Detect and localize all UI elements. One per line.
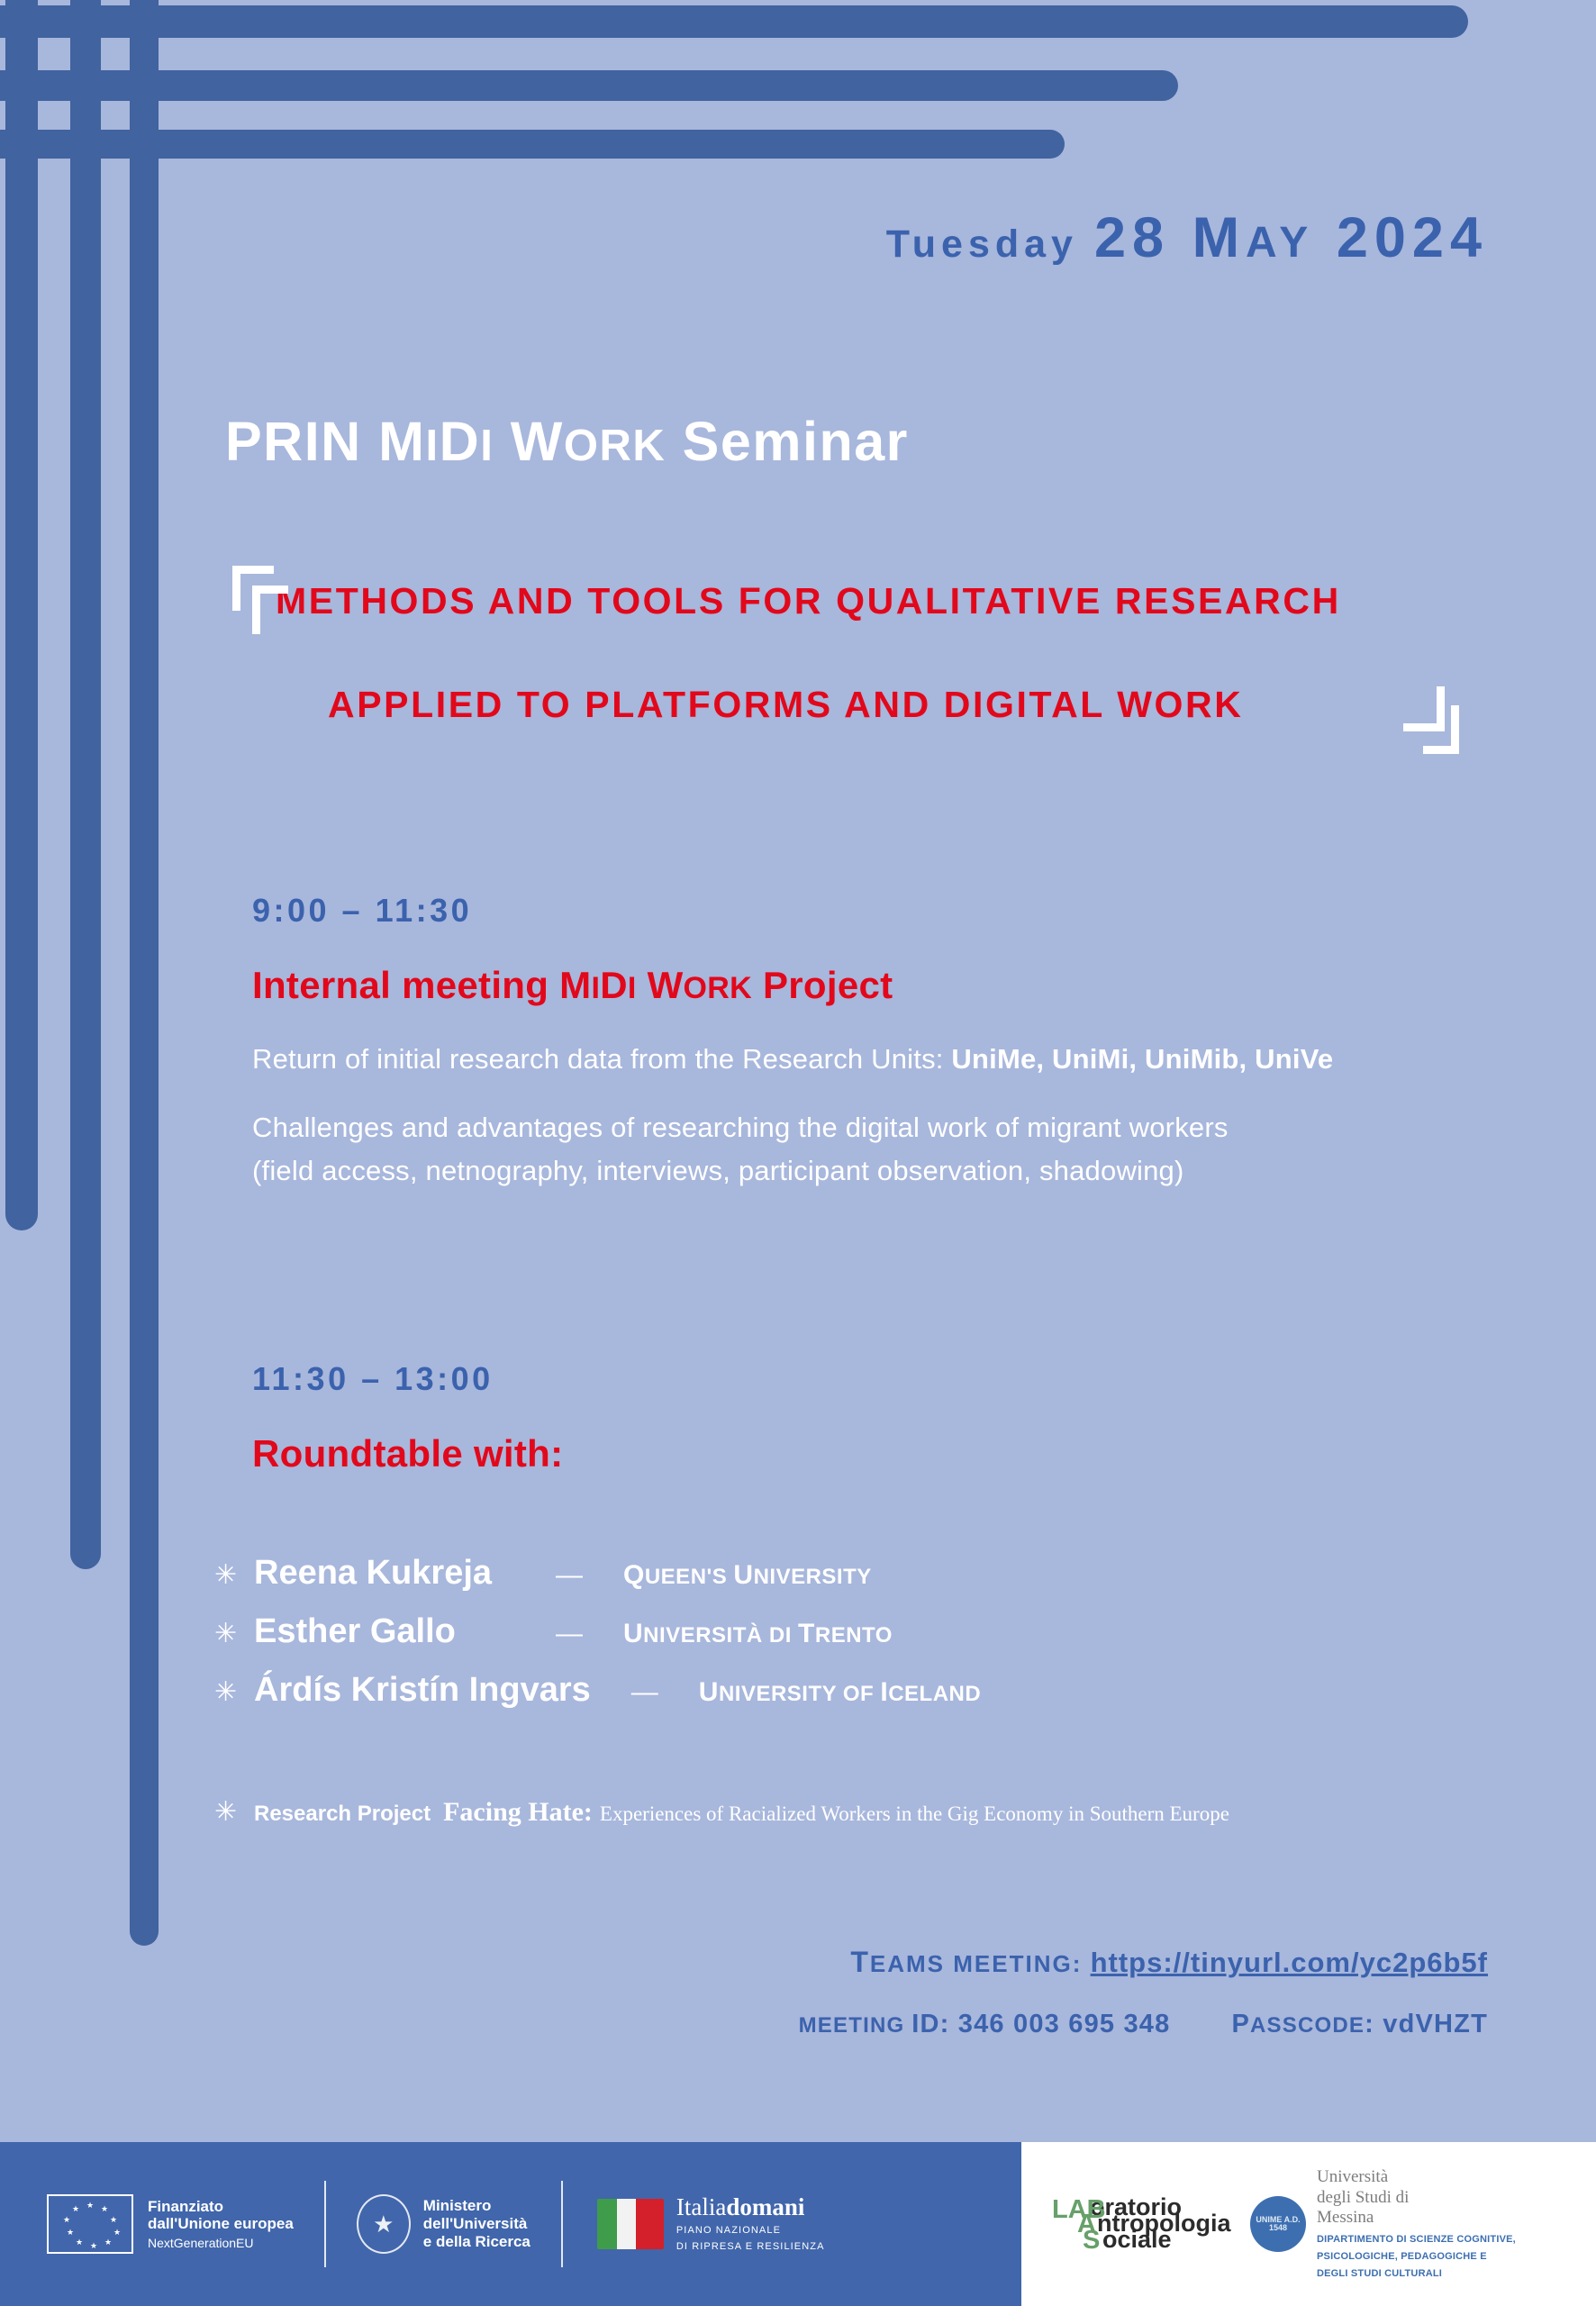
research-project-row: ✳ Research Project Facing Hate: Experien… [214,1797,1565,1828]
session-1-sc2: I [628,971,637,1005]
italiadomani-logo: Italiadomani PIANO NAZIONALE DI RIPRESA … [594,2194,825,2253]
asterisk-bullet-icon: ✳ [214,1562,254,1589]
session-1-body-line-3: (field access, netnography, interviews, … [252,1155,1495,1187]
date-month-rest: AY [1246,219,1314,267]
date-main: 28 MAY 2024 [1094,206,1488,269]
ministry-line-1: Ministero [423,2197,530,2215]
passcode-cap: P [1231,2010,1250,2038]
session-1-body-1-units: UniMe, UniMi, UniMib, UniVe [951,1043,1333,1075]
lab-word-3: ociale [1102,2228,1172,2252]
lab-letters-3: S [1083,2228,1100,2254]
speaker-name: Árdís Kristín Ingvars [254,1671,591,1710]
session-1-title-pre: Internal meeting M [252,964,591,1006]
session-2-title: Roundtable with: [252,1432,1495,1475]
unime-name-line-2: degli Studi di [1317,2188,1516,2208]
poster-canvas: Tuesday28 MAY 2024 PRIN MIDI WORK Semina… [0,0,1596,2306]
research-project-title: Facing Hate: [443,1797,593,1828]
event-date: Tuesday28 MAY 2024 [0,205,1488,270]
speaker-affiliation: UNIVERSITÀ DI TRENTO [623,1619,893,1649]
session-block-1: 9:00 – 11:30 Internal meeting MIDI WORK … [252,892,1495,1187]
aff-cap-2: T [798,1619,815,1648]
session-1-sc1: I [591,971,600,1005]
unime-dept-line-2: PSICOLOGICHE, PEDAGOGICHE E [1317,2250,1516,2263]
meeting-id-value: 346 003 695 348 [958,2010,1171,2038]
research-project-label: Research Project [254,1802,431,1827]
speaker-dash: — [515,1619,623,1649]
session-1-post: Project [752,964,893,1006]
meeting-id-cap: ID [911,2010,939,2038]
footer-logo-bar: ★ ★ ★ ★ ★ ★ ★ ★ ★ ★ Finanziato dall'Unio… [0,2142,1596,2306]
aff-cap-2: U [733,1560,753,1590]
eu-subtitle: NextGenerationEU [148,2236,294,2250]
unime-dept-line-3: DEGLI STUDI CULTURALI [1317,2267,1516,2280]
speaker-affiliation: QUEEN'S UNIVERSITY [623,1560,872,1591]
session-1-body-1-prefix: Return of initial research data from the… [252,1043,951,1075]
asterisk-bullet-icon: ✳ [214,1799,254,1826]
teams-meeting-link[interactable]: https://tinyurl.com/yc2p6b5f [1091,1947,1488,1978]
unime-name-line-3: Messina [1317,2208,1516,2228]
list-item: ✳ Reena Kukreja — QUEEN'S UNIVERSITY [214,1554,1520,1593]
unime-seal-icon: UNIME A.D. 1548 [1250,2196,1306,2252]
laboratorio-antropologia-sociale-logo: oratorio ntropologia ociale LAB A S [1052,2192,1223,2256]
speaker-dash: — [591,1677,699,1708]
footer-left-panel: ★ ★ ★ ★ ★ ★ ★ ★ ★ ★ Finanziato dall'Unio… [0,2142,1021,2306]
session-block-2: 11:30 – 13:00 Roundtable with: [252,1360,1495,1475]
session-1-work: ORK [684,971,752,1005]
speaker-list: ✳ Reena Kukreja — QUEEN'S UNIVERSITY ✳ E… [214,1554,1520,1729]
unime-text: Università degli Studi di Messina DIPART… [1317,2167,1516,2280]
title-smallcap-i2: I [480,422,494,470]
session-1-w: W [637,964,684,1006]
teams-meeting-block: TEAMS MEETING: https://tinyurl.com/yc2p6… [799,1946,1488,2039]
speaker-name: Reena Kukreja [254,1554,515,1593]
eu-flag-icon: ★ ★ ★ ★ ★ ★ ★ ★ ★ ★ [47,2194,133,2254]
eu-funding-text: Finanziato dall'Unione europea NextGener… [148,2198,294,2251]
session-1-mid: D [600,964,628,1006]
headline-line-1: METHODS AND TOOLS FOR QUALITATIVE RESEAR… [276,580,1341,622]
italiadomani-sub-1: PIANO NAZIONALE [676,2225,825,2238]
italiadomani-name-bold: domani [726,2193,804,2220]
headline-line-2: APPLIED TO PLATFORMS AND DIGITAL WORK [276,653,1486,757]
aff-small-2: CELAND [888,1682,981,1706]
italiadomani-sub-2: DI RIPRESA E RESILIENZA [676,2241,825,2254]
date-year: 2024 [1337,206,1488,269]
corner-bracket-bottom-right-icon [1389,676,1439,731]
passcode-label: ASSCODE [1250,2013,1365,2038]
italiadomani-name: Italiadomani [676,2194,825,2221]
session-1-body-line-2: Challenges and advantages of researching… [252,1112,1495,1144]
session-1-time: 9:00 – 11:30 [252,892,1495,930]
aff-small-1: NIVERSITY OF [719,1682,880,1706]
aff-cap-1: U [699,1677,719,1707]
eu-title-line-2: dall'Unione europea [148,2215,294,2233]
page-title: PRIN MIDI WORK Seminar [225,410,909,473]
teams-rest: EAMS [870,1950,945,1977]
title-d: D [440,411,481,472]
italiadomani-text: Italiadomani PIANO NAZIONALE DI RIPRESA … [676,2194,825,2253]
aff-small-2: RENTO [815,1623,893,1648]
footer-divider-1 [324,2181,326,2267]
title-suffix: Seminar [666,411,909,472]
eu-funding-logo: ★ ★ ★ ★ ★ ★ ★ ★ ★ ★ Finanziato dall'Unio… [0,2194,294,2254]
unime-name-line-1: Università [1317,2167,1516,2187]
teams-cap: T [850,1946,870,1978]
italiadomani-name-light: Italia [676,2193,726,2220]
passcode-colon: : [1365,2010,1383,2038]
footer-right-panel: oratorio ntropologia ociale LAB A S UNIM… [1021,2142,1596,2306]
frame-line-horizontal-1 [0,5,1468,38]
aff-small-2: NIVERSITY [754,1565,872,1589]
list-item: ✳ Esther Gallo — UNIVERSITÀ DI TRENTO [214,1612,1520,1651]
meeting-id-colon: : [940,2010,958,2038]
asterisk-bullet-icon: ✳ [214,1621,254,1648]
footer-divider-2 [561,2181,563,2267]
frame-line-vertical-1 [5,0,38,1230]
asterisk-bullet-icon: ✳ [214,1679,254,1706]
republic-emblem-icon: ★ [357,2194,411,2254]
frame-line-horizontal-2 [0,70,1178,101]
title-work-cap: W [494,411,564,472]
meeting-id-label: MEETING [799,2013,912,2038]
frame-line-vertical-3 [130,0,159,1946]
title-prefix: PRIN M [225,411,426,472]
eu-title-line-1: Finanziato [148,2198,294,2216]
session-2-time: 11:30 – 13:00 [252,1360,1495,1398]
frame-line-horizontal-3 [0,130,1065,159]
ministry-line-2: dell'Università [423,2215,530,2233]
speaker-name: Esther Gallo [254,1612,515,1651]
teams-meeting-line: TEAMS MEETING: https://tinyurl.com/yc2p6… [799,1946,1488,1979]
aff-cap-2: I [880,1677,888,1707]
session-1-body-line-1: Return of initial research data from the… [252,1043,1495,1076]
aff-cap-1: Q [623,1560,645,1590]
research-project-subtitle: Experiences of Racialized Workers in the… [600,1802,1229,1826]
corner-bracket-top-left-icon [232,566,283,622]
headline-block: METHODS AND TOOLS FOR QUALITATIVE RESEAR… [225,549,1486,757]
ministry-logo: ★ Ministero dell'Università e della Rice… [357,2194,530,2254]
aff-small-1: UEEN'S [645,1565,734,1589]
session-1-title: Internal meeting MIDI WORK Project [252,964,1495,1007]
italian-flag-icon [597,2199,664,2249]
headline-text: METHODS AND TOOLS FOR QUALITATIVE RESEAR… [225,549,1486,757]
speaker-dash: — [515,1560,623,1591]
title-work-rest: ORK [564,422,666,470]
date-weekday: Tuesday [886,222,1078,266]
title-smallcap-i1: I [426,422,440,470]
date-month-cap: M [1192,206,1246,269]
ministry-text: Ministero dell'Università e della Ricerc… [423,2197,530,2251]
date-day: 28 [1094,206,1170,269]
ministry-line-3: e della Ricerca [423,2233,530,2251]
passcode-value: vdVHZT [1383,2010,1488,2038]
aff-cap-1: U [623,1619,643,1648]
teams-meeting-label: MEETING: [945,1950,1091,1977]
list-item: ✳ Árdís Kristín Ingvars — UNIVERSITY OF … [214,1671,1520,1710]
unime-logo: UNIME A.D. 1548 Università degli Studi d… [1223,2167,1516,2280]
teams-credentials-line: MEETING ID: 346 003 695 348PASSCODE: vdV… [799,2010,1488,2039]
aff-small-1: NIVERSITÀ DI [643,1623,798,1648]
unime-dept-line-1: DIPARTIMENTO DI SCIENZE COGNITIVE, [1317,2233,1516,2246]
speaker-affiliation: UNIVERSITY OF ICELAND [699,1677,981,1708]
